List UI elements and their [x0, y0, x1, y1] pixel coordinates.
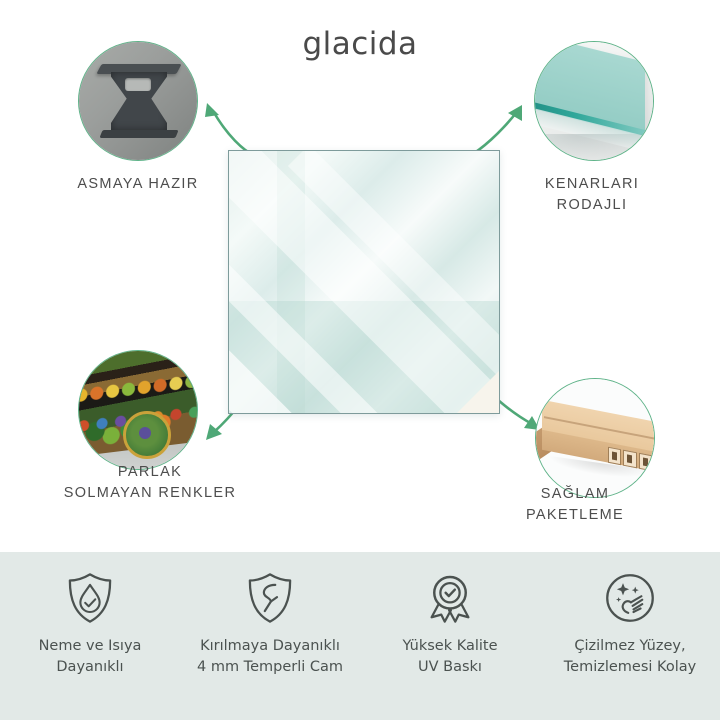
callout-label-line: SOLMAYAN RENKLER: [14, 483, 286, 504]
callout-image-kenarlari-rodajli: [534, 41, 654, 161]
hanging-bracket-photo: [79, 42, 197, 160]
callout-label-line: PAKETLEME: [440, 505, 710, 526]
feature-band: Neme ve Isıya Dayanıklı Kırılmaya Dayanı…: [0, 552, 720, 720]
feature-label-line: UV Baskı: [402, 657, 497, 678]
feature-label: Çizilmez Yüzey, Temizlemesi Kolay: [564, 636, 696, 678]
award-ribbon-check-icon: [422, 570, 478, 626]
peeled-corner: [456, 370, 500, 414]
callout-label-line: SAĞLAM: [440, 484, 710, 505]
feature-label-line: Çizilmez Yüzey,: [564, 636, 696, 657]
feature-label-line: Yüksek Kalite: [402, 636, 497, 657]
cardboard-box-illustration: [536, 379, 654, 497]
callout-image-parlak-solmayan-renkler: [78, 350, 198, 470]
feature-label-line: Dayanıklı: [39, 657, 142, 678]
callout-label-parlak-solmayan-renkler: PARLAK SOLMAYAN RENKLER: [14, 462, 286, 504]
feature-label-line: Temizlemesi Kolay: [564, 657, 696, 678]
callout-label-line: ASMAYA HAZIR: [20, 174, 256, 195]
feature-kirilmaya-dayanikli: Kırılmaya Dayanıklı 4 mm Temperli Cam: [180, 552, 360, 720]
callout-label-saglam-paketleme: SAĞLAM PAKETLEME: [440, 484, 710, 526]
feature-label-line: Neme ve Isıya: [39, 636, 142, 657]
feature-label-line: 4 mm Temperli Cam: [197, 657, 343, 678]
feature-label: Neme ve Isıya Dayanıklı: [39, 636, 142, 678]
feature-label: Kırılmaya Dayanıklı 4 mm Temperli Cam: [197, 636, 343, 678]
feature-cizilmez-yuzey: Çizilmez Yüzey, Temizlemesi Kolay: [540, 552, 720, 720]
feature-yuksek-kalite-uv-baski: Yüksek Kalite UV Baskı: [360, 552, 540, 720]
feature-label: Yüksek Kalite UV Baskı: [402, 636, 497, 678]
feature-neme-ve-isiya-dayanikli: Neme ve Isıya Dayanıklı: [0, 552, 180, 720]
callout-label-line: KENARLARI: [474, 174, 710, 195]
callout-label-line: PARLAK: [14, 462, 286, 483]
polished-glass-edge-photo: [535, 42, 653, 160]
colorful-print-photo: [79, 351, 197, 469]
callout-image-asmaya-hazir: [78, 41, 198, 161]
glass-panel-product: [228, 150, 500, 414]
umbrella-label-icon: [623, 450, 636, 469]
fragile-label-icon: [608, 447, 621, 466]
callout-label-asmaya-hazir: ASMAYA HAZIR: [20, 174, 256, 195]
infographic-canvas: glacida: [0, 0, 720, 720]
callout-label-kenarlari-rodajli: KENARLARI RODAJLI: [474, 174, 710, 216]
sparkle-cleaning-hand-icon: [602, 570, 658, 626]
shield-lightning-bolt-icon: [242, 570, 298, 626]
shield-water-drop-check-icon: [62, 570, 118, 626]
callout-label-line: RODAJLI: [474, 195, 710, 216]
feature-label-line: Kırılmaya Dayanıklı: [197, 636, 343, 657]
callout-image-saglam-paketleme: [535, 378, 655, 498]
